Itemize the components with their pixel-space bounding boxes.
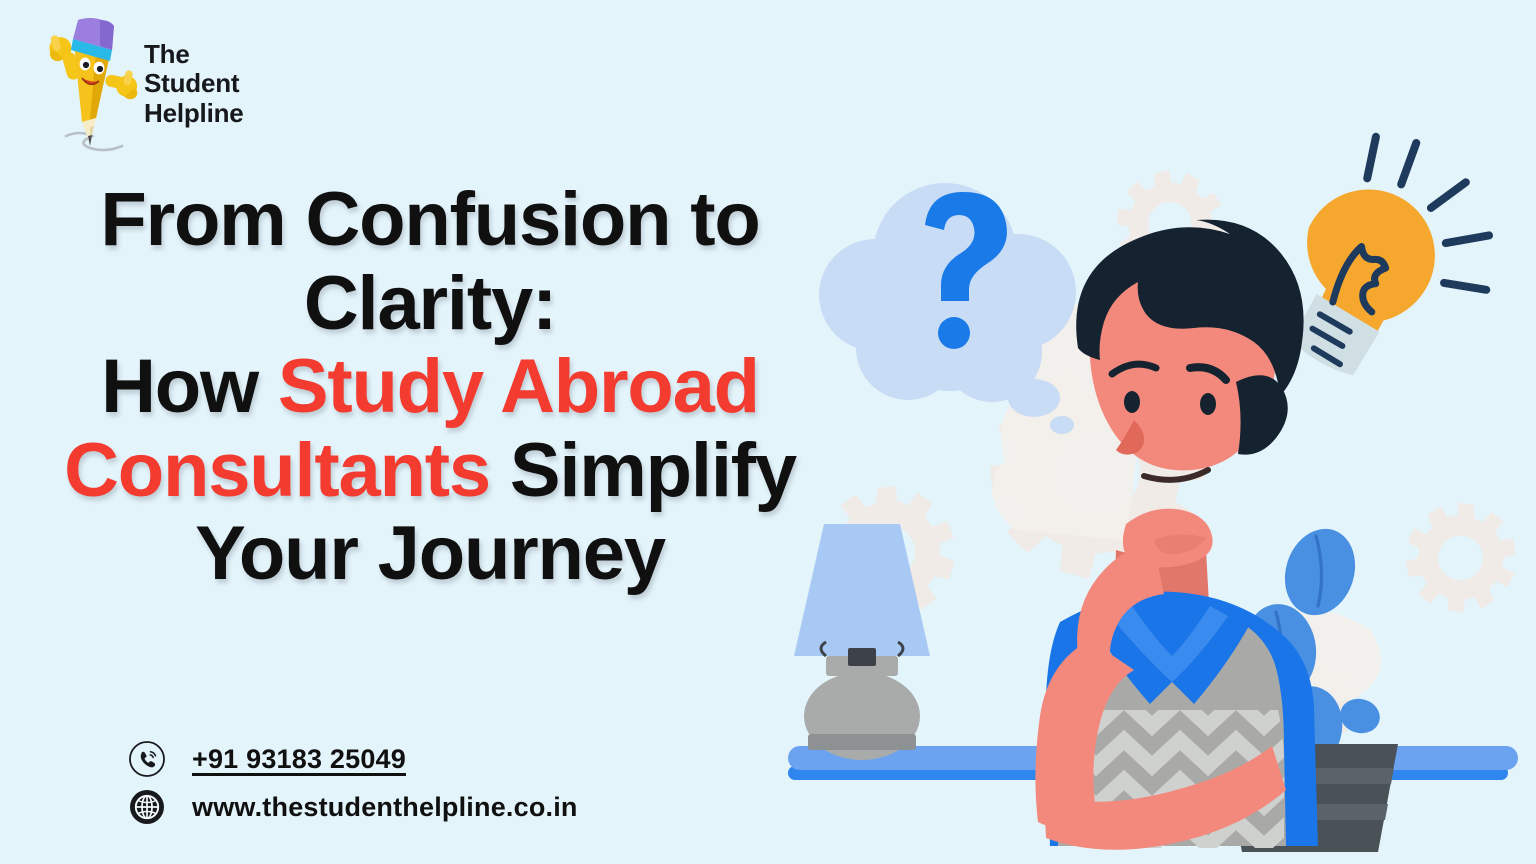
brand-name-line-3: Helpline [144,99,244,129]
headline: From Confusion to Clarity: How Study Abr… [40,178,820,596]
marketing-banner: The Student Helpline From Confusion to C… [0,0,1536,864]
headline-line-4: Consultants Simplify [40,429,820,513]
thought-bubble-question-mark [819,183,1076,434]
headline-line-4-plain: Simplify [490,428,796,513]
headline-line-3-plain: How [101,344,278,429]
headline-line-4-accent: Consultants [64,428,490,513]
headline-line-3-accent: Study Abroad [278,344,759,429]
headline-line-1: From Confusion to [40,178,820,262]
thinking-man [1035,220,1320,850]
headline-line-3: How Study Abroad [40,345,820,429]
table-lamp [794,524,930,760]
headline-line-2: Clarity: [40,262,820,346]
brand-logo[interactable]: The Student Helpline [34,14,244,154]
brand-name-line-2: Student [144,69,244,99]
idea-lightbulb [1266,120,1525,409]
phone-icon [128,740,166,778]
contact-block: +91 93183 25049 www.thestudenthelpline.c… [128,740,578,826]
brand-name: The Student Helpline [144,40,244,129]
brand-name-line-1: The [144,40,244,70]
phone-number[interactable]: +91 93183 25049 [192,744,406,775]
thinking-student-illustration [760,120,1536,864]
headline-line-5: Your Journey [40,512,820,596]
contact-website-row[interactable]: www.thestudenthelpline.co.in [128,788,578,826]
website-url[interactable]: www.thestudenthelpline.co.in [192,792,578,823]
pencil-mascot-icon [34,14,138,154]
globe-icon [128,788,166,826]
contact-phone-row[interactable]: +91 93183 25049 [128,740,578,778]
